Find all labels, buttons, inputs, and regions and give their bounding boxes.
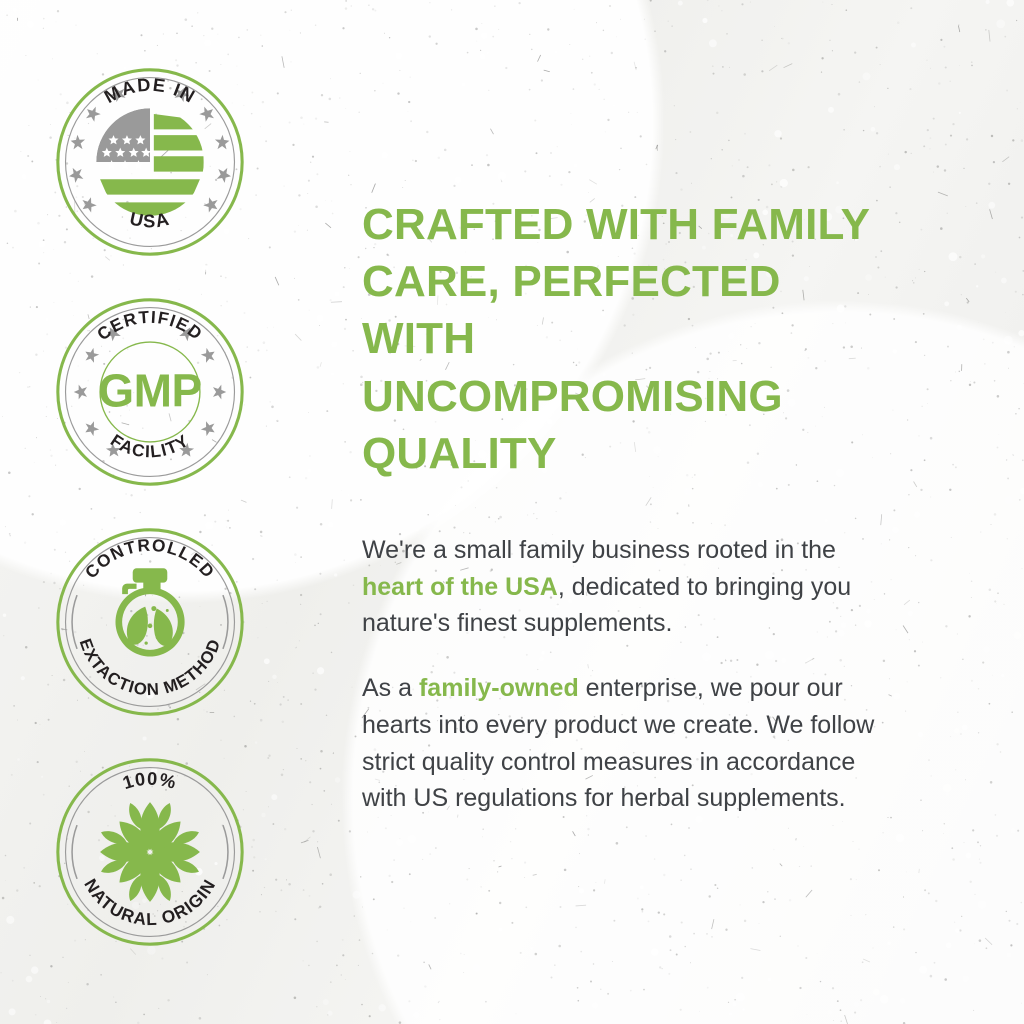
star-ring bbox=[68, 84, 232, 215]
paragraph-one-part-1: We're a small family business rooted in … bbox=[362, 536, 836, 564]
badge-bottom-label: USA bbox=[128, 208, 172, 232]
paragraph-one: We're a small family business rooted in … bbox=[362, 532, 882, 642]
usa-flag-circle-icon bbox=[96, 108, 204, 216]
badge-gmp-certified-facility: GMP CERTIFIED FACILITY bbox=[54, 296, 246, 488]
badge-made-in-usa: MADE IN USA bbox=[54, 66, 246, 258]
certification-badge-column: MADE IN USA bbox=[0, 0, 300, 1024]
svg-text:USA: USA bbox=[128, 208, 172, 232]
badge-natural-origin: 100% NATURAL ORIGIN bbox=[54, 756, 246, 948]
svg-text:MADE IN: MADE IN bbox=[100, 74, 199, 108]
paragraph-two-highlight: family-owned bbox=[419, 674, 579, 702]
paragraph-two: As a family-owned enterprise, we pour ou… bbox=[362, 670, 892, 817]
svg-text:FACILITY: FACILITY bbox=[107, 430, 193, 462]
badge-top-label: 100% bbox=[120, 768, 179, 794]
badge-bottom-label: EXTACTION METHOD bbox=[76, 636, 225, 699]
svg-text:100%: 100% bbox=[120, 768, 179, 794]
paragraph-one-highlight: heart of the USA bbox=[362, 573, 558, 601]
badge-top-label: MADE IN bbox=[100, 74, 199, 108]
side-arcs bbox=[72, 595, 228, 649]
svg-text:CERTIFIED: CERTIFIED bbox=[93, 307, 207, 345]
promo-panel: MADE IN USA bbox=[0, 0, 1024, 1024]
flask-leaf-icon bbox=[115, 568, 184, 656]
svg-text:EXTACTION METHOD: EXTACTION METHOD bbox=[76, 636, 225, 699]
badge-bottom-label: FACILITY bbox=[107, 430, 193, 462]
page-title: CRAFTED WITH FAMILY CARE, PERFECTED WITH… bbox=[362, 196, 904, 482]
badge-controlled-extaction-method: CONTROLLED EXTACTION METHOD bbox=[54, 526, 246, 718]
leaf-rosette-icon bbox=[99, 801, 201, 903]
gmp-center-label: GMP bbox=[98, 364, 202, 416]
badge-top-label: CERTIFIED bbox=[93, 307, 207, 345]
paragraph-two-part-1: As a bbox=[362, 674, 419, 702]
copy-column: CRAFTED WITH FAMILY CARE, PERFECTED WITH… bbox=[300, 0, 1024, 1024]
